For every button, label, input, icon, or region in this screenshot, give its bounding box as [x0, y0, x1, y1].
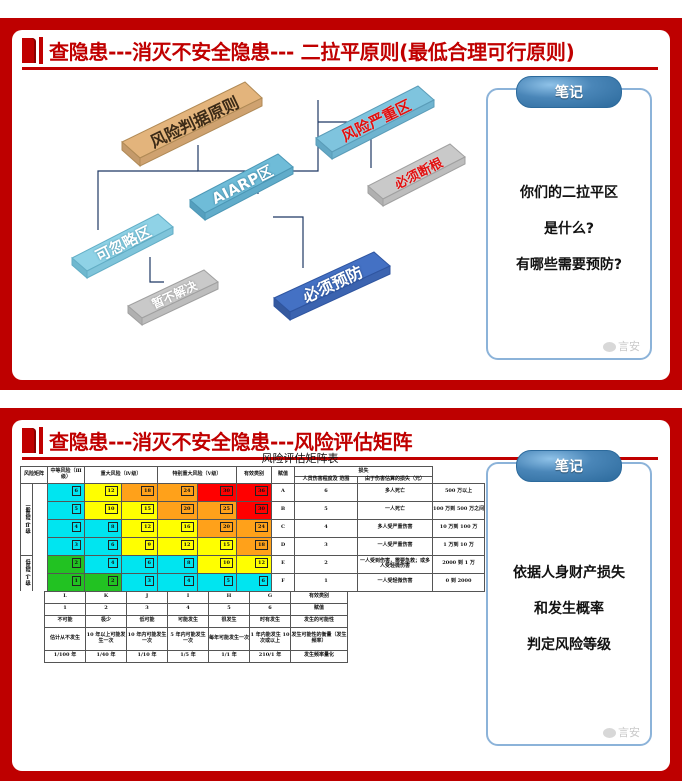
matrix-header-row: 风险矩阵 中等风险（Ⅲ级） 重大风险（Ⅳ级） 特别重大风险（Ⅴ级） 有效类别 赋… [21, 467, 485, 477]
matrix-cell-value: 25 [220, 504, 233, 514]
probability-table: LKJIHG有效类别123456赋值不可能极少低可能可能发生很发生时有发生发生的… [20, 591, 348, 663]
prob-cell-name: 低可能 [127, 615, 168, 627]
matrix-cell[interactable]: 6 [85, 537, 122, 555]
matrix-cell-value: 20 [181, 504, 194, 514]
side-label-low: 低风险（Ⅰ级） [21, 555, 33, 591]
flag-icon [22, 38, 36, 63]
loss-text: 500 万以上 [433, 483, 485, 501]
flag-icon [22, 428, 36, 453]
probability-row: LKJIHG有效类别 [20, 591, 348, 603]
matrix-cell[interactable]: 10 [85, 501, 122, 519]
slide-1-title-row: 查隐患---消灭不安全隐患--- 二拉平原则(最低合理可行原则) [12, 30, 670, 70]
matrix-cell[interactable]: 5 [197, 573, 237, 591]
class-score: 6 [295, 483, 358, 501]
matrix-cell[interactable]: 12 [85, 483, 122, 501]
matrix-cell-value: 2 [108, 576, 117, 586]
matrix-cell[interactable]: 8 [85, 519, 122, 537]
prob-cell-code: I [168, 591, 209, 603]
risk-matrix-wrap: 风险评估矩阵表 风险矩阵 中等风险（Ⅲ级） 重大风险（Ⅳ级） 特别重大风险（Ⅴ级… [20, 450, 490, 663]
prob-row-label: 有效类别 [291, 591, 348, 603]
loss-text: 10 万到 100 万 [433, 519, 485, 537]
prob-cell-freq: 210/1 年 [250, 650, 291, 662]
prob-cell-name: 可能发生 [168, 615, 209, 627]
probability-row: 123456赋值 [20, 603, 348, 615]
matrix-cell[interactable]: 20 [197, 519, 237, 537]
matrix-cell[interactable]: 2 [48, 555, 85, 573]
matrix-cell[interactable]: 6 [237, 573, 272, 591]
prob-cell-code: K [86, 591, 127, 603]
prob-spacer [20, 627, 45, 650]
probability-row: 不可能极少低可能可能发生很发生时有发生发生的可能性 [20, 615, 348, 627]
prob-cell-score: 4 [168, 603, 209, 615]
matrix-cell[interactable]: 3 [48, 537, 85, 555]
slide-2: 查隐患---消灭不安全隐患---风险评估矩阵 风险评估矩阵表 风险矩阵 中等风险… [0, 408, 682, 781]
band-header: 特别重大风险（Ⅴ级） [158, 467, 237, 484]
matrix-cell[interactable]: 5 [48, 501, 85, 519]
note-card-1: 笔记 你们的二拉平区 是什么? 有哪些需要预防? 言安 [486, 88, 652, 360]
class-header: 有效类别 [237, 467, 272, 484]
class-score: 5 [295, 501, 358, 519]
matrix-cell-value: 4 [108, 558, 117, 568]
note-line: 你们的二拉平区 [520, 182, 618, 202]
score-header: 赋值 [272, 467, 295, 484]
matrix-cell[interactable]: 18 [237, 537, 272, 555]
matrix-cell[interactable]: 20 [158, 501, 198, 519]
band-header: 重大风险（Ⅳ级） [85, 467, 158, 484]
class-code: C [272, 519, 295, 537]
matrix-cell-value: 12 [141, 522, 154, 532]
note-line: 判定风险等级 [527, 634, 611, 654]
matrix-cell-value: 6 [108, 540, 117, 550]
prob-row-label: 发生的可能性 [291, 615, 348, 627]
matrix-row: 4812162024C4多人受严重伤害10 万到 100 万 [21, 519, 485, 537]
probability-body: LKJIHG有效类别123456赋值不可能极少低可能可能发生很发生时有发生发生的… [20, 591, 348, 662]
class-code: E [272, 555, 295, 573]
prob-spacer [20, 603, 45, 615]
note-line: 和发生概率 [534, 598, 604, 618]
matrix-cell-value: 10 [220, 558, 233, 568]
risk-matrix-table: 风险矩阵 中等风险（Ⅲ级） 重大风险（Ⅳ级） 特别重大风险（Ⅴ级） 有效类别 赋… [20, 466, 485, 592]
prob-row-label: 发生频率量化 [291, 650, 348, 662]
prob-cell-name: 时有发生 [250, 615, 291, 627]
matrix-cell-value: 5 [224, 576, 233, 586]
prob-spacer [20, 650, 45, 662]
matrix-cell-value: 4 [184, 576, 193, 586]
matrix-cell-value: 16 [181, 522, 194, 532]
prob-cell-freq: 1/10 年 [127, 650, 168, 662]
matrix-cell-value: 12 [255, 558, 268, 568]
matrix-cell[interactable]: 6 [48, 483, 85, 501]
matrix-cell-value: 24 [181, 486, 194, 496]
probability-row: 估计从不发生10 年以上可能发生一次10 年内可能发生一次5 年内可能发生一次每… [20, 627, 348, 650]
matrix-cell-value: 36 [255, 486, 268, 496]
note-card-2: 笔记 依据人身财产损失 和发生概率 判定风险等级 言安 [486, 462, 652, 746]
loss-text: 1 万到 10 万 [433, 537, 485, 555]
class-code: A [272, 483, 295, 501]
prob-cell-name: 极少 [86, 615, 127, 627]
prob-cell-code: J [127, 591, 168, 603]
prob-cell-desc: 估计从不发生 [45, 627, 86, 650]
harm-text: 一人受到伤害，需要急救；或多人受轻微伤害 [358, 555, 433, 573]
matrix-cell-value: 30 [220, 486, 233, 496]
page-title: 查隐患---消灭不安全隐患--- 二拉平原则(最低合理可行原则) [49, 36, 574, 65]
matrix-row: 51015202530B5一人死亡100 万到 500 万之间 [21, 501, 485, 519]
matrix-cell[interactable]: 24 [158, 483, 198, 501]
note-title: 笔记 [555, 82, 583, 102]
slide-1: 查隐患---消灭不安全隐患--- 二拉平原则(最低合理可行原则) [0, 18, 682, 390]
matrix-cell-value: 12 [105, 486, 118, 496]
matrix-cell-value: 3 [145, 576, 154, 586]
matrix-cell-value: 6 [72, 486, 81, 496]
matrix-cell[interactable]: 30 [197, 483, 237, 501]
slide-2-inner: 查隐患---消灭不安全隐患---风险评估矩阵 风险评估矩阵表 风险矩阵 中等风险… [12, 420, 670, 771]
class-code: B [272, 501, 295, 519]
slide-1-inner: 查隐患---消灭不安全隐患--- 二拉平原则(最低合理可行原则) [12, 30, 670, 380]
note-line: 是什么? [544, 218, 594, 238]
matrix-cell[interactable]: 8 [158, 555, 198, 573]
harm-text: 多人受严重伤害 [358, 519, 433, 537]
matrix-cell[interactable]: 9 [121, 537, 158, 555]
prob-cell-score: 3 [127, 603, 168, 615]
class-score: 2 [295, 555, 358, 573]
matrix-cell[interactable]: 16 [158, 519, 198, 537]
harm-text: 一人受轻微伤害 [358, 573, 433, 591]
title-underline [22, 67, 658, 70]
matrix-cell[interactable]: 12 [121, 519, 158, 537]
matrix-cell-value: 20 [220, 522, 233, 532]
matrix-cell-value: 8 [184, 558, 193, 568]
prob-cell-name: 不可能 [45, 615, 86, 627]
side-spacer [33, 483, 48, 591]
matrix-cell[interactable]: 12 [237, 555, 272, 573]
probability-row: 1/100 年1/40 年1/10 年1/5 年1/1 年210/1 年发生频率… [20, 650, 348, 662]
matrix-cell-value: 4 [72, 522, 81, 532]
matrix-corner: 风险矩阵 [21, 467, 48, 484]
loss-sub-header-2: 由于伤害估算的损失（元） [358, 477, 433, 484]
matrix-cell-value: 1 [72, 576, 81, 586]
prob-cell-score: 2 [86, 603, 127, 615]
prob-cell-desc: 1 年内能发生 10 次或以上 [250, 627, 291, 650]
wechat-icon [603, 728, 616, 738]
loss-text: 100 万到 500 万之间 [433, 501, 485, 519]
matrix-cell-value: 15 [220, 540, 233, 550]
page-root: 查隐患---消灭不安全隐患--- 二拉平原则(最低合理可行原则) [0, 0, 682, 781]
note-title-pill: 笔记 [516, 76, 622, 108]
risk-principle-diagram: 风险判据原则 风险严重区 [18, 72, 473, 324]
loss-header: 损失 [295, 467, 433, 477]
matrix-cell[interactable]: 25 [197, 501, 237, 519]
prob-cell-desc: 5 年内可能发生一次 [168, 627, 209, 650]
matrix-cell[interactable]: 6 [121, 555, 158, 573]
matrix-cell[interactable]: 4 [158, 573, 198, 591]
loss-text: 2000 到 1 万 [433, 555, 485, 573]
matrix-cell-value: 10 [105, 504, 118, 514]
class-code: D [272, 537, 295, 555]
matrix-cell[interactable]: 3 [121, 573, 158, 591]
matrix-cell[interactable]: 1 [48, 573, 85, 591]
prob-cell-score: 1 [45, 603, 86, 615]
prob-cell-score: 6 [250, 603, 291, 615]
prob-cell-freq: 1/5 年 [168, 650, 209, 662]
harm-text: 一人死亡 [358, 501, 433, 519]
matrix-cell[interactable]: 4 [48, 519, 85, 537]
prob-cell-desc: 每年可能发生一次 [209, 627, 250, 650]
matrix-cell[interactable]: 10 [197, 555, 237, 573]
matrix-cell[interactable]: 36 [237, 483, 272, 501]
prob-row-label: 发生可能性的衡量（发生频率） [291, 627, 348, 650]
matrix-cell-value: 24 [255, 522, 268, 532]
note-title-pill: 笔记 [516, 450, 622, 482]
matrix-body: 一般风险（Ⅱ级）61218243036A6多人死亡500 万以上51015202… [21, 483, 485, 591]
prob-cell-code: H [209, 591, 250, 603]
watermark-1: 言安 [603, 338, 640, 354]
matrix-cell-value: 15 [141, 504, 154, 514]
matrix-cell-value: 30 [255, 504, 268, 514]
prob-cell-freq: 1/100 年 [45, 650, 86, 662]
table-caption: 风险评估矩阵表 [110, 450, 490, 466]
harm-text: 多人死亡 [358, 483, 433, 501]
matrix-cell[interactable]: 2 [85, 573, 122, 591]
matrix-cell[interactable]: 15 [197, 537, 237, 555]
matrix-cell-value: 5 [72, 504, 81, 514]
matrix-cell-value: 3 [72, 540, 81, 550]
title-accent-bar [39, 37, 43, 64]
matrix-cell-value: 18 [141, 486, 154, 496]
matrix-row: 369121518D3一人受严重伤害1 万到 10 万 [21, 537, 485, 555]
prob-cell-code: G [250, 591, 291, 603]
note-title: 笔记 [555, 456, 583, 476]
matrix-row: 一般风险（Ⅱ级）61218243036A6多人死亡500 万以上 [21, 483, 485, 501]
matrix-cell-value: 2 [72, 558, 81, 568]
prob-cell-name: 很发生 [209, 615, 250, 627]
note-body-2: 依据人身财产损失 和发生概率 判定风险等级 [488, 498, 650, 718]
wechat-icon [603, 342, 616, 352]
loss-sub-header-1: 人员伤害程度及 范围 [295, 477, 358, 484]
matrix-row: 低风险（Ⅰ级）24681012E2一人受到伤害，需要急救；或多人受轻微伤害200… [21, 555, 485, 573]
matrix-cell-value: 18 [255, 540, 268, 550]
class-code: F [272, 573, 295, 591]
prob-row-label: 赋值 [291, 603, 348, 615]
prob-cell-freq: 1/40 年 [86, 650, 127, 662]
side-label-general: 一般风险（Ⅱ级） [21, 483, 33, 555]
matrix-cell-value: 12 [181, 540, 194, 550]
matrix-cell[interactable]: 24 [237, 519, 272, 537]
band-header: 中等风险（Ⅲ级） [48, 467, 85, 484]
note-line: 有哪些需要预防? [516, 254, 622, 274]
class-score: 3 [295, 537, 358, 555]
prob-cell-code: L [45, 591, 86, 603]
prob-cell-freq: 1/1 年 [209, 650, 250, 662]
matrix-cell-value: 9 [145, 540, 154, 550]
prob-cell-desc: 10 年内可能发生一次 [127, 627, 168, 650]
matrix-cell[interactable]: 4 [85, 555, 122, 573]
class-score: 4 [295, 519, 358, 537]
matrix-cell[interactable]: 18 [121, 483, 158, 501]
prob-spacer [20, 591, 45, 603]
watermark-2: 言安 [603, 724, 640, 740]
matrix-cell-value: 6 [145, 558, 154, 568]
note-line: 依据人身财产损失 [513, 562, 625, 582]
harm-text: 一人受严重伤害 [358, 537, 433, 555]
matrix-cell[interactable]: 12 [158, 537, 198, 555]
note-body-1: 你们的二拉平区 是什么? 有哪些需要预防? [488, 124, 650, 332]
prob-cell-score: 5 [209, 603, 250, 615]
matrix-row: 123456F1一人受轻微伤害0 到 2000 [21, 573, 485, 591]
matrix-cell-value: 6 [259, 576, 268, 586]
matrix-cell-value: 8 [108, 522, 117, 532]
prob-spacer [20, 615, 45, 627]
matrix-cell[interactable]: 30 [237, 501, 272, 519]
class-score: 1 [295, 573, 358, 591]
prob-cell-desc: 10 年以上可能发生一次 [86, 627, 127, 650]
loss-text: 0 到 2000 [433, 573, 485, 591]
matrix-cell[interactable]: 15 [121, 501, 158, 519]
